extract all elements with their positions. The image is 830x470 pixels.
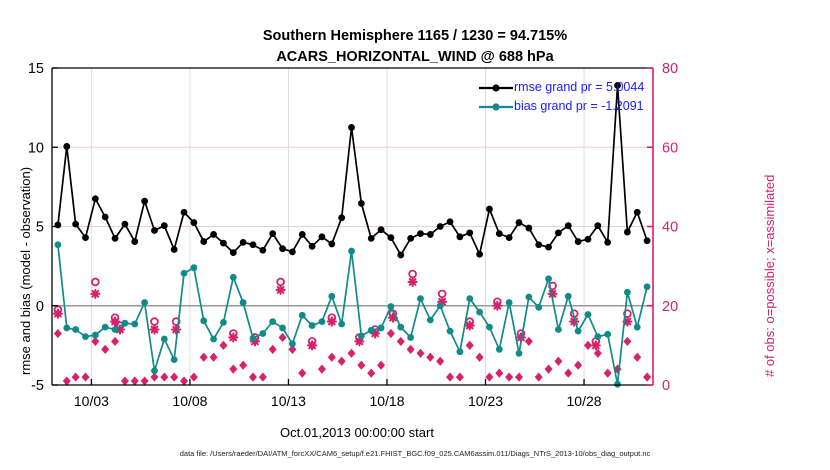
svg-text:10/23: 10/23	[468, 393, 503, 409]
svg-text:40: 40	[662, 220, 678, 236]
svg-text:10/28: 10/28	[567, 393, 602, 409]
legend-rmse-sample	[478, 80, 514, 96]
figure-container: Southern Hemisphere 1165 / 1230 = 94.715…	[0, 0, 830, 470]
y-axis-label-left: rmse and bias (model - observation)	[18, 167, 33, 375]
svg-text:10: 10	[28, 140, 44, 156]
legend-rmse-label: rmse grand pr = 5.0044	[514, 80, 644, 94]
legend-bias-sample	[478, 99, 514, 115]
legend-row-bias: bias grand pr = -1.2091	[478, 97, 644, 116]
svg-text:10/08: 10/08	[172, 393, 207, 409]
data-series	[55, 82, 651, 388]
plot-svg: -505101502040608010/0310/0810/1310/1810/…	[0, 0, 830, 470]
legend-row-rmse: rmse grand pr = 5.0044	[478, 78, 644, 97]
svg-text:0: 0	[662, 378, 670, 394]
svg-text:-5: -5	[31, 378, 44, 394]
svg-text:20: 20	[662, 299, 678, 315]
svg-text:80: 80	[662, 61, 678, 77]
legend: rmse grand pr = 5.0044 bias grand pr = -…	[478, 78, 644, 116]
svg-text:10/03: 10/03	[74, 393, 109, 409]
svg-text:5: 5	[36, 220, 44, 236]
svg-text:0: 0	[36, 299, 44, 315]
data-file-footer: data file: /Users/raeder/DAI/ATM_forcXX/…	[0, 449, 830, 458]
svg-text:10/18: 10/18	[369, 393, 404, 409]
y-axis-label-right: # of obs: o=possible; x=assimilated	[762, 175, 777, 377]
svg-text:15: 15	[28, 61, 44, 77]
legend-bias-label: bias grand pr = -1.2091	[514, 99, 644, 113]
svg-text:10/13: 10/13	[271, 393, 306, 409]
x-axis-label: Oct.01,2013 00:00:00 start	[0, 425, 772, 440]
svg-text:60: 60	[662, 140, 678, 156]
